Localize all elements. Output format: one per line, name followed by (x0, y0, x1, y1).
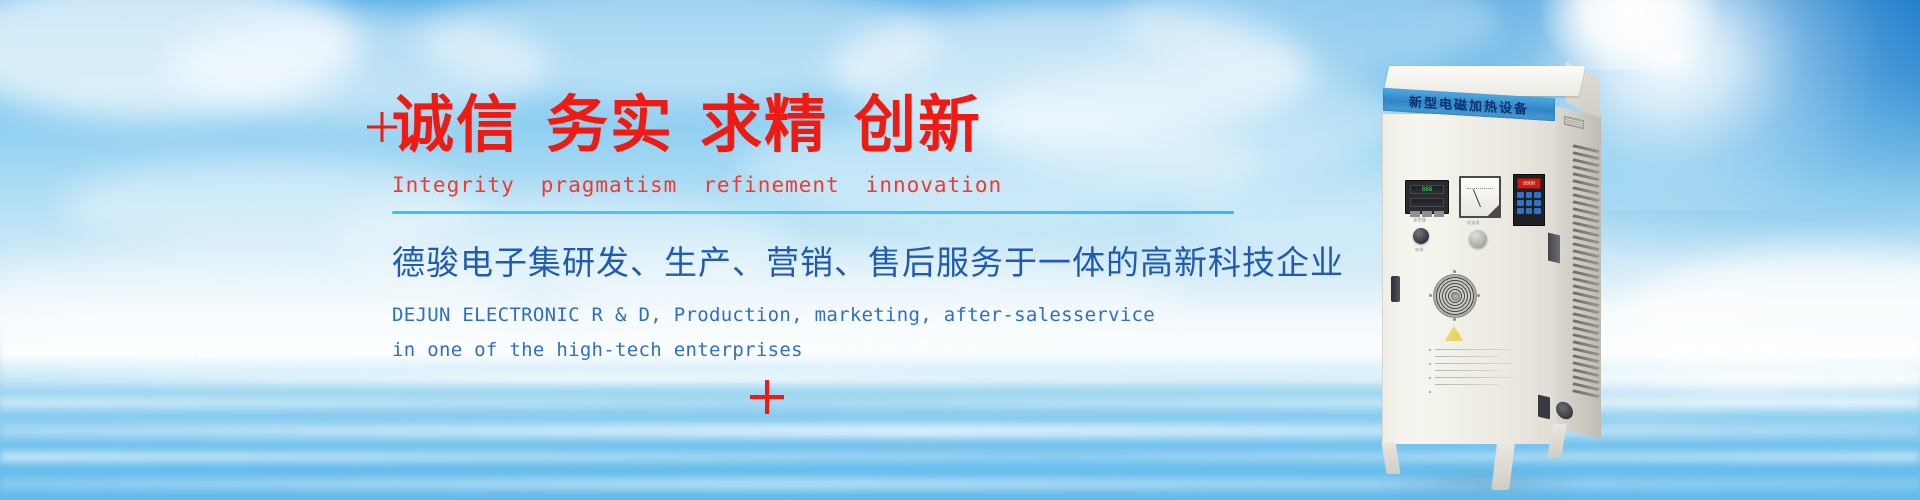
subhead-word: Integrity (392, 173, 515, 197)
headline-word: 创新 (854, 88, 982, 161)
control-caption-power: 电源 (1415, 247, 1424, 253)
fan-screw (1429, 294, 1432, 297)
spec-bullet (1429, 363, 1431, 365)
lightning-bolt-icon: ⚡ (1453, 333, 1462, 340)
controller-button[interactable] (1434, 211, 1444, 217)
gauge-scale (1467, 188, 1493, 189)
headline-word: 求精 (700, 88, 828, 161)
fan-screw (1477, 294, 1480, 297)
keypad-key[interactable] (1517, 200, 1524, 206)
ventilation-grille (1573, 144, 1599, 400)
keypad-key[interactable] (1526, 208, 1533, 214)
door-latch[interactable] (1391, 276, 1400, 302)
spec-bullet (1429, 391, 1431, 393)
keypad-key[interactable] (1534, 208, 1541, 214)
promotional-banner: 诚信务实求精创新 Integritypragmatismrefinementin… (0, 0, 1920, 500)
cable-port (1538, 395, 1550, 420)
water-streak (0, 424, 1920, 438)
keypad-key[interactable] (1517, 192, 1524, 198)
machine-side-panel (1555, 106, 1601, 439)
analog-ammeter-gauge (1459, 176, 1501, 218)
headline-slogan: 诚信务实求精创新 (392, 92, 1292, 159)
sun-core (1540, 0, 1720, 70)
product-machine: 888 0000 温控器 电流表 电源 (1378, 66, 1608, 486)
fan-screw (1453, 318, 1456, 321)
machine-front-panel: 888 0000 温控器 电流表 电源 (1382, 114, 1556, 444)
keypad-key[interactable] (1517, 208, 1524, 214)
subhead-word: pragmatism (541, 173, 677, 197)
control-caption-ammeter: 电流表 (1467, 220, 1480, 226)
company-tagline-english: DEJUN ELECTRONIC R & D, Production, mark… (392, 298, 1182, 368)
headline-english-translation: Integritypragmatismrefinementinnovation (392, 173, 1292, 197)
keypad-key[interactable] (1534, 200, 1541, 206)
water-streak (0, 478, 1920, 490)
subhead-word: innovation (866, 173, 1002, 197)
digital-readout-value: 888 (1411, 186, 1443, 194)
gauge-corner-bevel (1488, 205, 1499, 216)
power-selector-knob[interactable] (1413, 228, 1429, 244)
water-streak (0, 372, 1920, 384)
keypad-key[interactable] (1534, 192, 1541, 198)
keypad-controller: 0000 (1513, 174, 1545, 226)
gauge-needle (1473, 189, 1481, 207)
subhead-word: refinement (703, 173, 839, 197)
fan-hub (1451, 292, 1460, 301)
plus-mark-icon (750, 380, 784, 414)
spec-bullet (1429, 349, 1431, 351)
keypad-key[interactable] (1526, 192, 1533, 198)
headline-word: 诚信 (392, 88, 520, 161)
keypad-display-value: 0000 (1518, 179, 1540, 189)
horizontal-divider (392, 211, 1234, 214)
side-handle[interactable] (1548, 233, 1560, 264)
spec-bullet (1429, 377, 1431, 379)
water-streak (0, 398, 1920, 408)
cooling-fan-grille (1433, 274, 1477, 318)
adjustment-knob[interactable] (1469, 230, 1487, 248)
temperature-controller: 888 (1405, 180, 1449, 214)
fan-screw (1453, 270, 1456, 273)
control-caption-temperature: 温控器 (1413, 217, 1426, 223)
machine-shadow (1378, 470, 1588, 496)
water-streak (0, 452, 1920, 462)
specification-label (1435, 349, 1513, 391)
company-tagline-chinese: 德骏电子集研发、生产、营销、售后服务于一体的高新科技企业 (392, 236, 1292, 284)
keypad-key[interactable] (1526, 200, 1533, 206)
banner-copy: 诚信务实求精创新 Integritypragmatismrefinementin… (392, 92, 1292, 368)
headline-word: 务实 (546, 88, 674, 161)
